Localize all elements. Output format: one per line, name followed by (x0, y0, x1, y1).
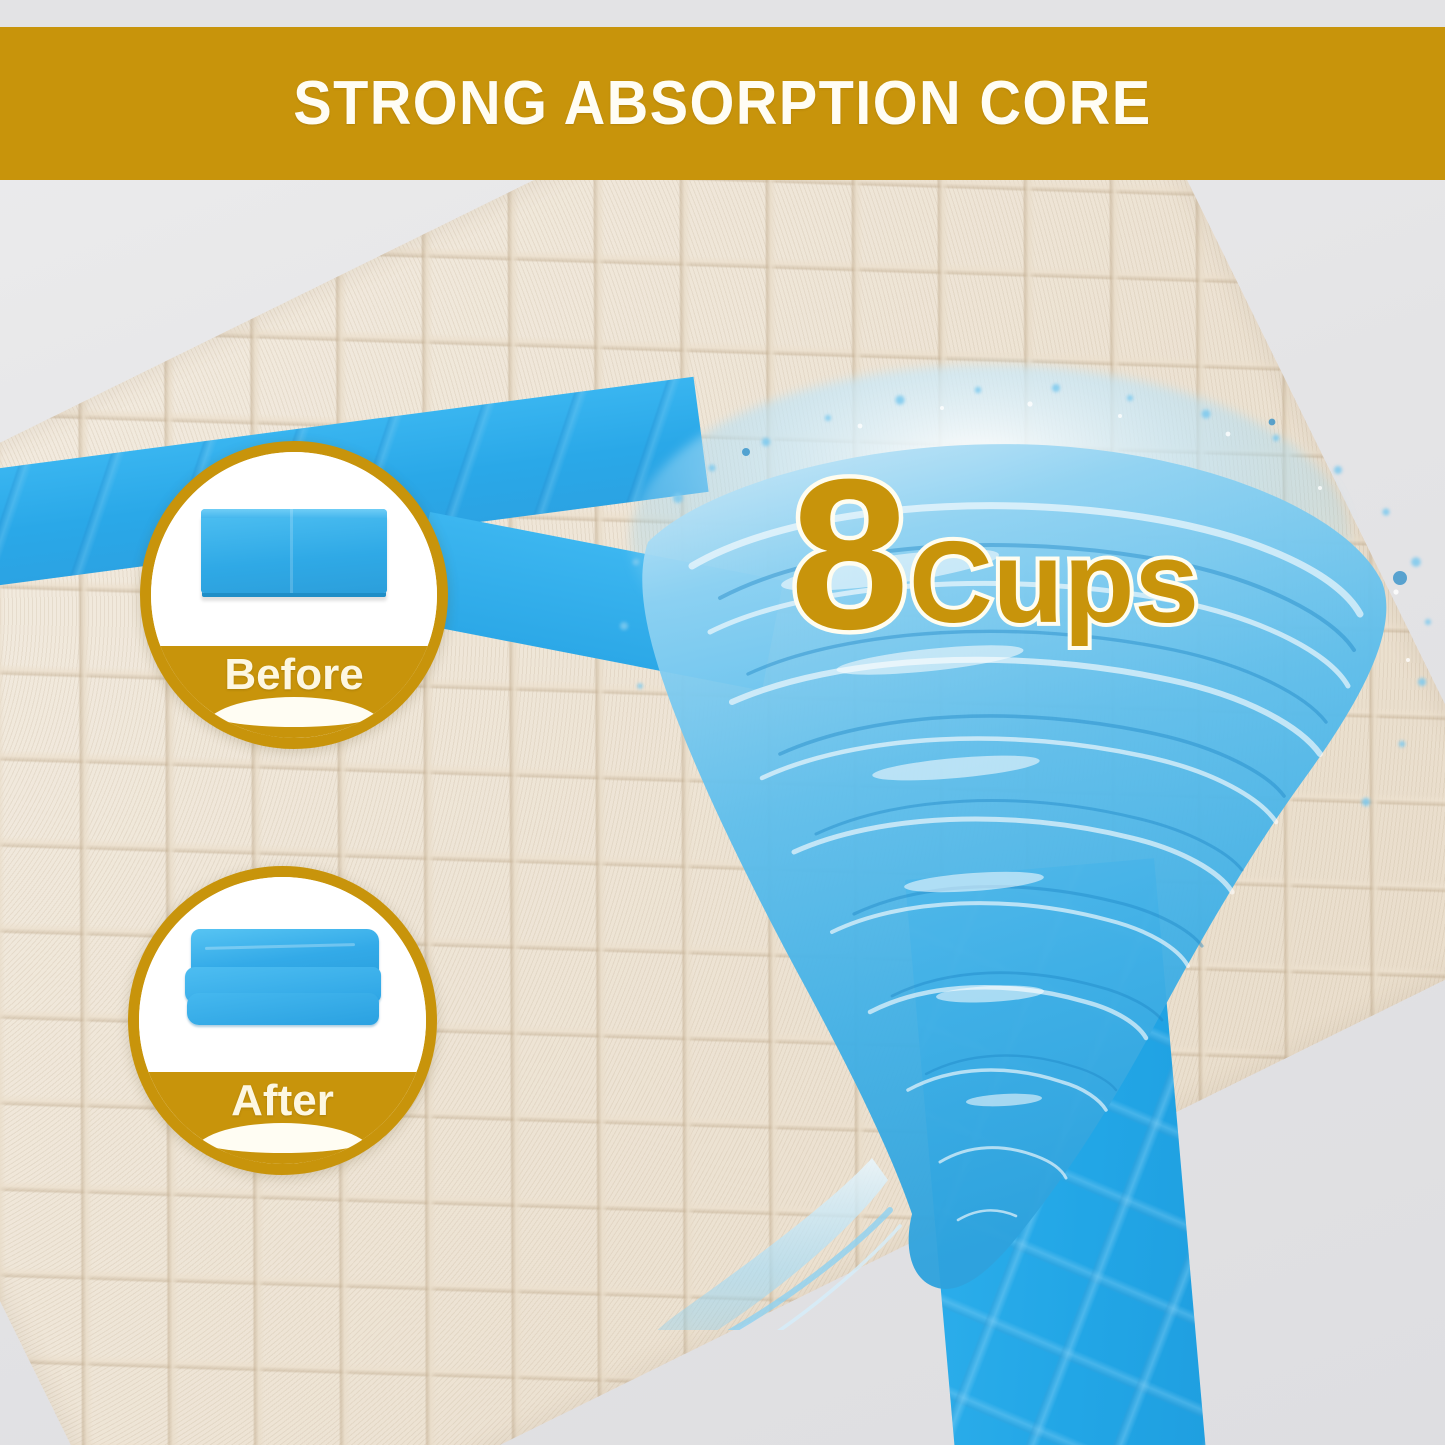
folded-pad-crease (204, 943, 354, 950)
folded-pad-icon (185, 927, 381, 1031)
page-title: STRONG ABSORPTION CORE (293, 68, 1151, 139)
badge-before-photo (151, 452, 437, 646)
header-banner: STRONG ABSORPTION CORE (0, 27, 1445, 180)
badge-after-footer: After (139, 1072, 426, 1164)
badge-after-arc (194, 1123, 372, 1153)
badge-after-photo (139, 877, 426, 1072)
badge-after-label: After (231, 1078, 334, 1124)
product-feature-graphic: 8 Cups Before After STRONG A (0, 0, 1445, 1445)
badge-after[interactable]: After (128, 866, 437, 1175)
badge-before-label: Before (224, 652, 363, 698)
flat-pad-icon (201, 509, 387, 593)
badge-before-arc (205, 697, 382, 727)
water-vortex-funnel-icon (560, 330, 1445, 1330)
folded-pad-layer-bottom (187, 993, 379, 1025)
badge-before[interactable]: Before (140, 441, 448, 749)
badge-before-footer: Before (151, 646, 437, 738)
top-background-strip (0, 0, 1445, 27)
